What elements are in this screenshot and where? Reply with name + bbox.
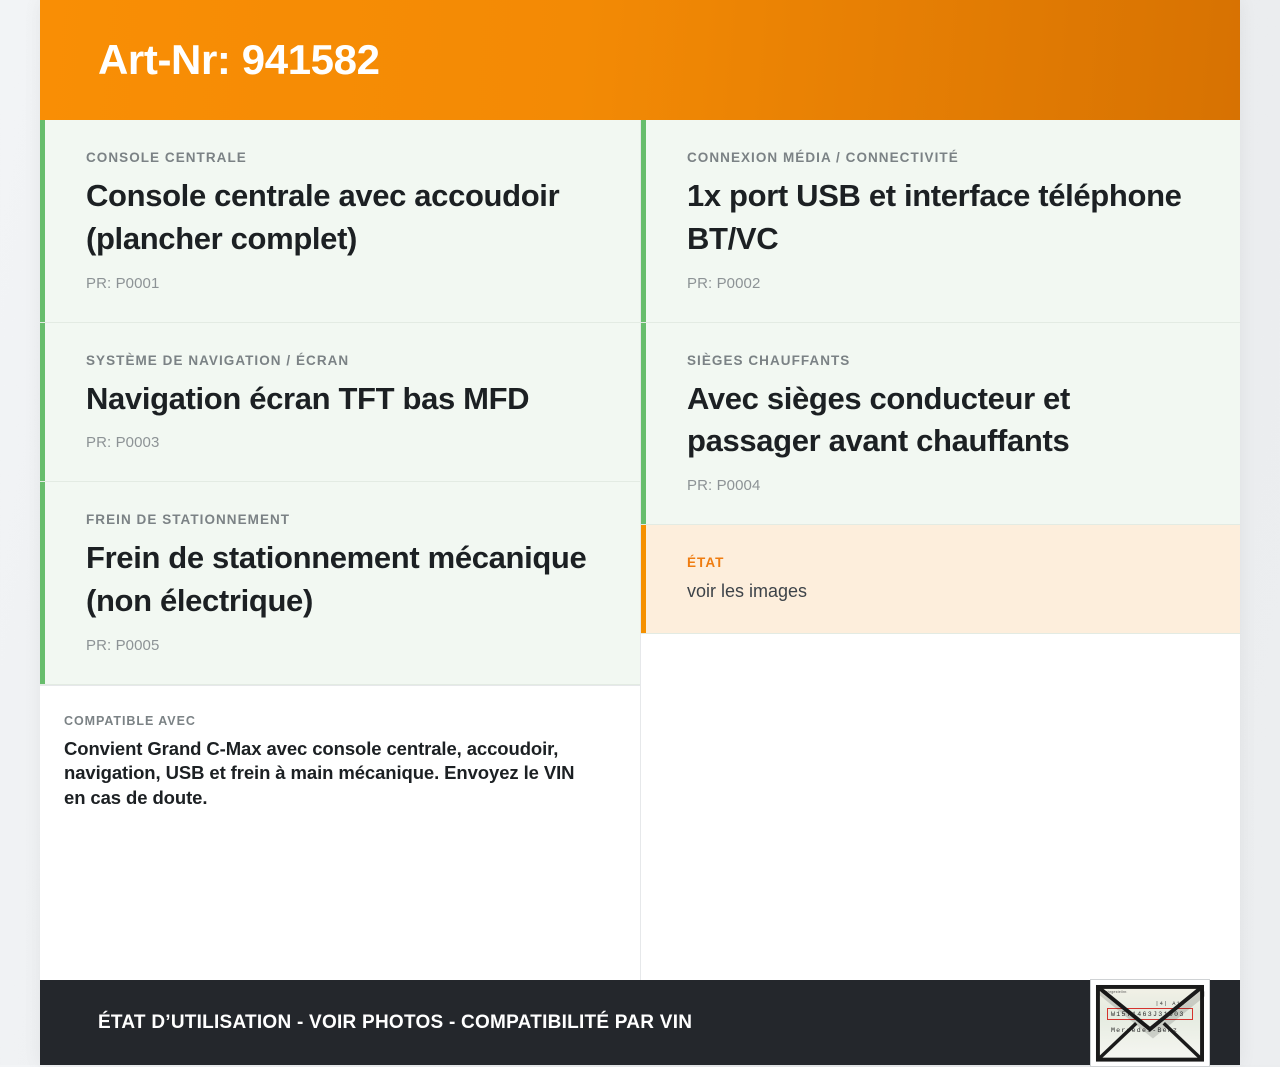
spec-pr-code: PR: P0001 <box>86 275 596 292</box>
vin-document-thumbnail[interactable]: Fahrgestellnr. |4| A14 W1571463J31903 Me… <box>1090 979 1210 1067</box>
spec-card: CONSOLE CENTRALE Console centrale avec a… <box>40 120 640 323</box>
specs-body: CONSOLE CENTRALE Console centrale avec a… <box>40 120 1240 980</box>
page-title: Art-Nr: 941582 <box>98 39 380 81</box>
spec-card: CONNEXION MÉDIA / CONNECTIVITÉ 1x port U… <box>641 120 1240 323</box>
spec-value: Navigation écran TFT bas MFD <box>86 378 596 421</box>
footer-bar: ÉTAT D’UTILISATION - VOIR PHOTOS - COMPA… <box>40 980 1240 1065</box>
left-column-filler <box>40 837 640 980</box>
spec-label: SYSTÈME DE NAVIGATION / ÉCRAN <box>86 353 596 368</box>
state-value: voir les images <box>687 580 1196 603</box>
compatibility-text: Convient Grand C-Max avec console centra… <box>64 737 600 811</box>
spec-pr-code: PR: P0004 <box>687 477 1196 494</box>
compatibility-label: COMPATIBLE AVEC <box>64 714 600 728</box>
state-card: ÉTAT voir les images <box>641 525 1240 634</box>
spec-value: Console centrale avec accoudoir (planche… <box>86 175 596 261</box>
left-column: CONSOLE CENTRALE Console centrale avec a… <box>40 120 640 980</box>
spec-card: FREIN DE STATIONNEMENT Frein de stationn… <box>40 482 640 685</box>
spec-pr-code: PR: P0005 <box>86 637 596 654</box>
spec-card: SIÈGES CHAUFFANTS Avec sièges conducteur… <box>641 323 1240 526</box>
state-label: ÉTAT <box>687 555 1196 570</box>
compatibility-block: COMPATIBLE AVEC Convient Grand C-Max ave… <box>40 685 640 837</box>
spec-value: 1x port USB et interface téléphone BT/VC <box>687 175 1196 261</box>
spec-label: CONSOLE CENTRALE <box>86 150 596 165</box>
footer-text: ÉTAT D’UTILISATION - VOIR PHOTOS - COMPA… <box>98 1012 692 1034</box>
right-column-filler <box>641 634 1240 980</box>
envelope-icon <box>1095 984 1205 1063</box>
spec-label: SIÈGES CHAUFFANTS <box>687 353 1196 368</box>
spec-pr-code: PR: P0003 <box>86 434 596 451</box>
spec-pr-code: PR: P0002 <box>687 275 1196 292</box>
spec-label: FREIN DE STATIONNEMENT <box>86 512 596 527</box>
product-sheet: Art-Nr: 941582 CONSOLE CENTRALE Console … <box>40 0 1240 1065</box>
spec-value: Frein de stationnement mécanique (non él… <box>86 537 596 623</box>
spec-card: SYSTÈME DE NAVIGATION / ÉCRAN Navigation… <box>40 323 640 483</box>
header-bar: Art-Nr: 941582 <box>40 0 1240 120</box>
spec-value: Avec sièges conducteur et passager avant… <box>687 378 1196 464</box>
spec-label: CONNEXION MÉDIA / CONNECTIVITÉ <box>687 150 1196 165</box>
right-column: CONNEXION MÉDIA / CONNECTIVITÉ 1x port U… <box>640 120 1240 980</box>
